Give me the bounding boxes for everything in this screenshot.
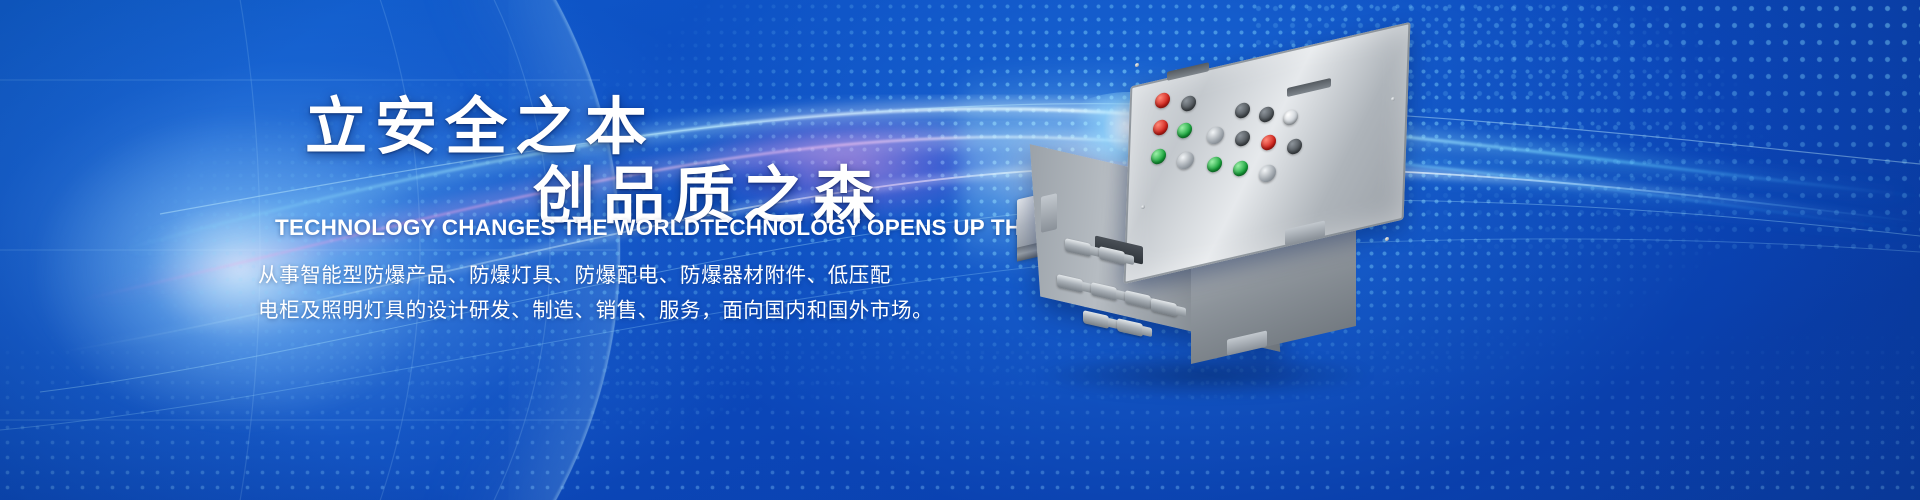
description-line-2: 电柜及照明灯具的设计研发、制造、销售、服务，面向国内和国外市场。 <box>258 293 918 328</box>
banner-copy: 立安全之本 创品质之森 TECHNOLOGY CHANGES THE WORLD… <box>0 0 960 500</box>
panel-screw-1 <box>1135 63 1139 68</box>
description-text: 从事智能型防爆产品、防爆灯具、防爆配电、防爆器材附件、低压配 电柜及照明灯具的设… <box>258 258 918 329</box>
cable-gland-7 <box>1117 318 1143 337</box>
mounting-bracket-3 <box>1041 193 1057 233</box>
hero-banner: 立安全之本 创品质之森 TECHNOLOGY CHANGES THE WORLD… <box>0 0 1920 500</box>
description-line-1: 从事智能型防爆产品、防爆灯具、防爆配电、防爆器材附件、低压配 <box>258 258 918 293</box>
cable-gland-6 <box>1083 310 1109 329</box>
panel-screw-4 <box>1385 237 1389 242</box>
explosion-proof-control-box <box>995 45 1415 385</box>
control-panel-rim <box>1124 22 1411 284</box>
